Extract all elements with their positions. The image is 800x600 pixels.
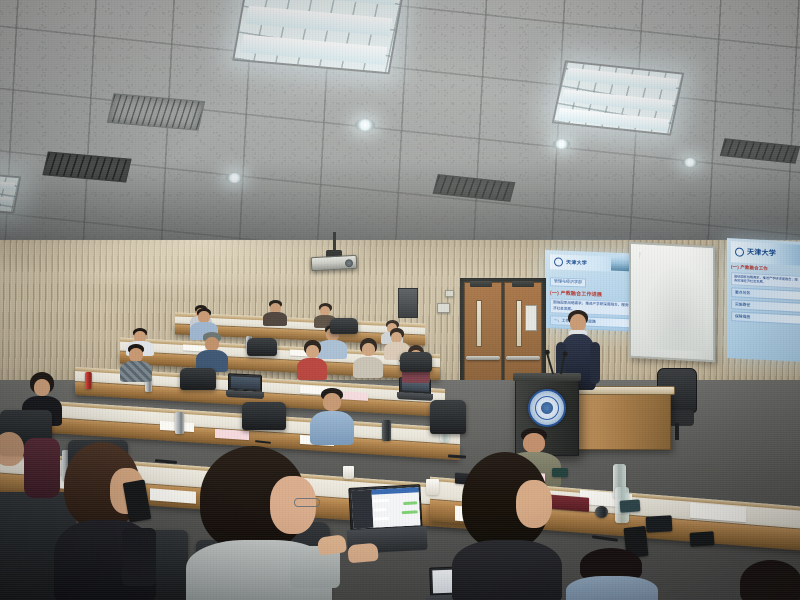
attendee-front-phone-woman — [52, 442, 156, 600]
chat-sidebar[interactable] — [351, 489, 373, 529]
attendee-row3-cap-man — [196, 332, 228, 370]
projector-pole — [333, 232, 336, 252]
university-seal — [528, 389, 566, 427]
slide-content-right: 天津大学 (一) 产教融合工作 围绕国家战略需求，推进产学研深度融合，服务区域经… — [727, 238, 800, 362]
slide-note-right: 围绕国家战略需求，推进产学研深度融合，服务区域经济社会发展。 — [731, 272, 800, 289]
hand — [317, 534, 347, 556]
smartphone[interactable] — [646, 515, 673, 532]
door-vision-panel — [476, 300, 482, 348]
attendee-back-mid-man — [262, 300, 288, 324]
attendee-row3-plaid-man — [120, 344, 152, 380]
door-notice-sign — [525, 305, 537, 330]
slide-university-name: 天津大学 — [566, 259, 587, 267]
chat-titlebar — [371, 487, 418, 495]
door-push-bar-right[interactable] — [506, 356, 539, 360]
lecture-chair[interactable] — [330, 318, 358, 334]
attendee-bottom-right — [566, 548, 658, 600]
smartphone[interactable] — [690, 531, 715, 547]
attendee-front-right-woman — [452, 452, 564, 600]
ceiling — [0, 0, 800, 270]
door-closer-left — [470, 281, 492, 287]
attendee-row3-red-woman — [297, 340, 327, 380]
attendee-torso — [452, 540, 562, 600]
attendee-head — [516, 480, 552, 528]
thermos-flask — [85, 372, 92, 389]
eyeglasses-icon — [294, 498, 320, 507]
laptop[interactable] — [228, 373, 262, 399]
whiteboard — [629, 242, 715, 363]
smartphone[interactable] — [620, 499, 641, 512]
chat-application[interactable] — [351, 487, 420, 529]
lecture-chair[interactable] — [180, 368, 216, 390]
door-push-bar-left[interactable] — [466, 356, 499, 360]
attendee-row2-blue-man — [310, 388, 354, 444]
university-logo-icon-right — [735, 247, 744, 256]
slide-university-name-right: 天津大学 — [747, 247, 776, 259]
presenter-arm-right — [590, 342, 600, 384]
lecture-chair[interactable] — [242, 402, 286, 430]
hand — [347, 543, 378, 564]
door-vision-panel-right — [516, 300, 522, 348]
downlight-3 — [553, 139, 570, 149]
door-closer-right — [512, 281, 534, 287]
attendee-front-laptop-woman — [186, 446, 334, 600]
lecture-chair[interactable] — [430, 400, 466, 434]
lecture-chair[interactable] — [247, 338, 277, 356]
slide-bullet-r3: 保障措施 — [731, 312, 800, 325]
wooden-lectern — [575, 392, 671, 450]
slide-header-right: 天津大学 — [731, 241, 800, 265]
exit-sign — [437, 303, 450, 313]
secondary-projection-screen: 天津大学 (一) 产教融合工作 围绕国家战略需求，推进产学研深度融合，服务区域经… — [727, 238, 800, 362]
paper-cup — [426, 479, 439, 495]
thermos-flask — [595, 506, 608, 518]
chat-message-pane[interactable] — [371, 487, 420, 528]
slide-department-tag: 管理与经济学部 — [550, 277, 586, 287]
wall-control-panel[interactable] — [398, 288, 418, 318]
paper-cup — [343, 466, 354, 479]
troffer-light-2 — [552, 60, 685, 135]
lecture-chair[interactable] — [400, 352, 432, 372]
lecture-hall-photo: 天津大学 管理与经济学部 (一) 产教融合工作进展 围绕国家战略需求，推进产学研… — [0, 0, 800, 600]
downlight-1 — [355, 119, 375, 131]
attendee-bottom-far-right — [740, 560, 800, 600]
slide-bullet-r2: 实施路径 — [731, 300, 800, 313]
attendee-arm — [122, 528, 156, 586]
thermos-flask — [175, 412, 184, 434]
slide-bullet-r1: 重点任务 — [731, 287, 800, 300]
university-logo-icon — [554, 258, 563, 267]
thermos-flask — [382, 420, 391, 441]
attendee-left-edge-maroon — [0, 432, 60, 532]
room-info-sign — [445, 290, 454, 297]
whiteboard-marks — [639, 252, 705, 351]
ceiling-projector — [311, 255, 358, 271]
attendee-row3-laptop-woman — [353, 338, 383, 378]
